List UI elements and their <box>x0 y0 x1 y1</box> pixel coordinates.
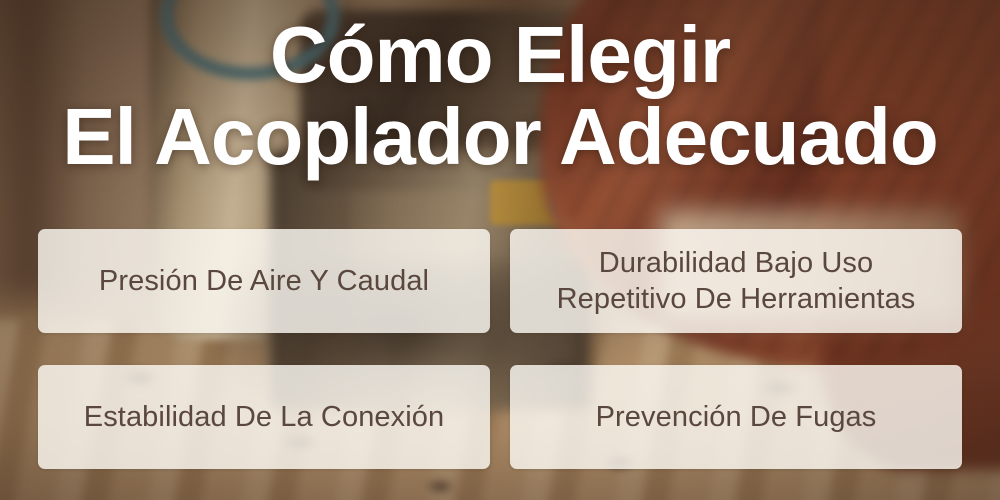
page-title: Cómo Elegir El Acoplador Adecuado <box>0 14 1000 178</box>
feature-card-air-pressure[interactable]: Presión De Aire Y Caudal <box>38 229 490 333</box>
feature-card-durability[interactable]: Durabilidad Bajo UsoRepetitivo De Herram… <box>510 229 962 333</box>
feature-card-label: Durabilidad Bajo UsoRepetitivo De Herram… <box>557 245 916 317</box>
page-title-line-2: El Acoplador Adecuado <box>0 96 1000 178</box>
promo-banner: Cómo Elegir El Acoplador Adecuado Presió… <box>0 0 1000 500</box>
feature-card-leak-prevention[interactable]: Prevención De Fugas <box>510 365 962 469</box>
feature-card-label: Presión De Aire Y Caudal <box>99 263 429 299</box>
feature-card-connection-stability[interactable]: Estabilidad De La Conexión <box>38 365 490 469</box>
feature-card-label: Estabilidad De La Conexión <box>84 399 445 435</box>
page-title-line-1: Cómo Elegir <box>0 14 1000 96</box>
feature-card-grid: Presión De Aire Y Caudal Durabilidad Baj… <box>38 229 962 475</box>
feature-card-label: Prevención De Fugas <box>596 399 877 435</box>
